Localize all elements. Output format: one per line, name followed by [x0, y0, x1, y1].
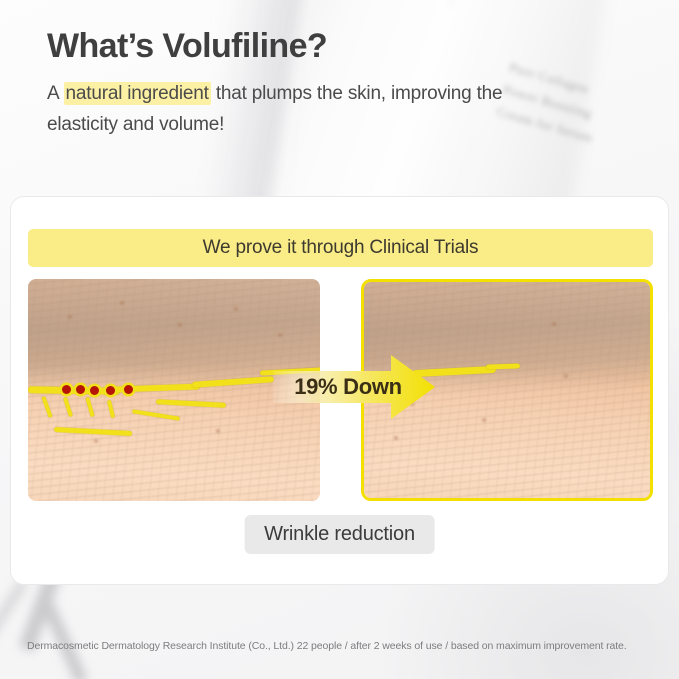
- arrow-label: 19% Down: [293, 355, 403, 419]
- deep-wrinkle-marker: [90, 386, 99, 395]
- deep-wrinkle-marker: [124, 385, 133, 394]
- dropper-part-2: [37, 592, 88, 679]
- before-after-photo-strip: 19% Down: [28, 279, 653, 501]
- study-footnote: Dermacosmetic Dermatology Research Insti…: [27, 640, 667, 652]
- skin-pore: [564, 374, 568, 378]
- deep-wrinkle-marker: [62, 385, 71, 394]
- skin-pore: [394, 436, 398, 440]
- page-title: What’s Volufiline?: [47, 24, 567, 68]
- skin-pore: [278, 333, 282, 337]
- skin-pore: [234, 307, 238, 311]
- deep-wrinkle-marker: [76, 385, 85, 394]
- skin-pore: [216, 429, 220, 433]
- wrinkle-reduction-caption: Wrinkle reduction: [244, 515, 435, 554]
- skin-pore: [482, 418, 486, 422]
- deep-wrinkle-marker: [106, 386, 115, 395]
- clinical-trials-banner: We prove it through Clinical Trials: [28, 229, 653, 267]
- header-block: What’s Volufiline? A natural ingredient …: [47, 24, 567, 140]
- clinical-trial-card: We prove it through Clinical Trials: [10, 196, 669, 585]
- subtitle-pre: A: [47, 83, 64, 104]
- subtitle-highlight: natural ingredient: [64, 82, 211, 105]
- improvement-arrow: 19% Down: [273, 355, 435, 419]
- skin-pore: [120, 301, 124, 305]
- skin-pore: [94, 439, 98, 443]
- skin-pore: [178, 323, 182, 327]
- page-subtitle: A natural ingredient that plumps the ski…: [47, 78, 567, 140]
- skin-pore: [552, 322, 556, 326]
- skin-pore: [68, 315, 72, 319]
